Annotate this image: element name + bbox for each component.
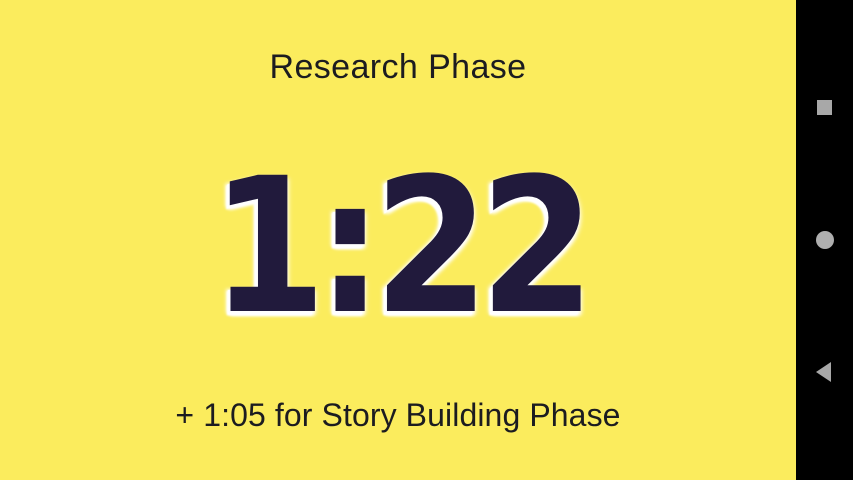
recents-button[interactable] bbox=[796, 79, 853, 135]
timer-display[interactable]: 1:22 bbox=[0, 172, 796, 322]
back-button[interactable] bbox=[796, 344, 853, 400]
app-screen: Research Phase 1:22 + 1:05 for Story Bui… bbox=[0, 0, 853, 480]
timer-content-area: Research Phase 1:22 + 1:05 for Story Bui… bbox=[0, 0, 796, 480]
home-button[interactable] bbox=[796, 212, 853, 268]
android-navigation-bar bbox=[796, 0, 853, 480]
timer-value[interactable]: 1:22 bbox=[211, 154, 586, 341]
circle-icon bbox=[816, 231, 834, 249]
square-icon bbox=[817, 100, 832, 115]
next-phase-note: + 1:05 for Story Building Phase bbox=[0, 396, 796, 434]
triangle-left-icon bbox=[816, 362, 831, 382]
page-title: Research Phase bbox=[0, 47, 796, 88]
